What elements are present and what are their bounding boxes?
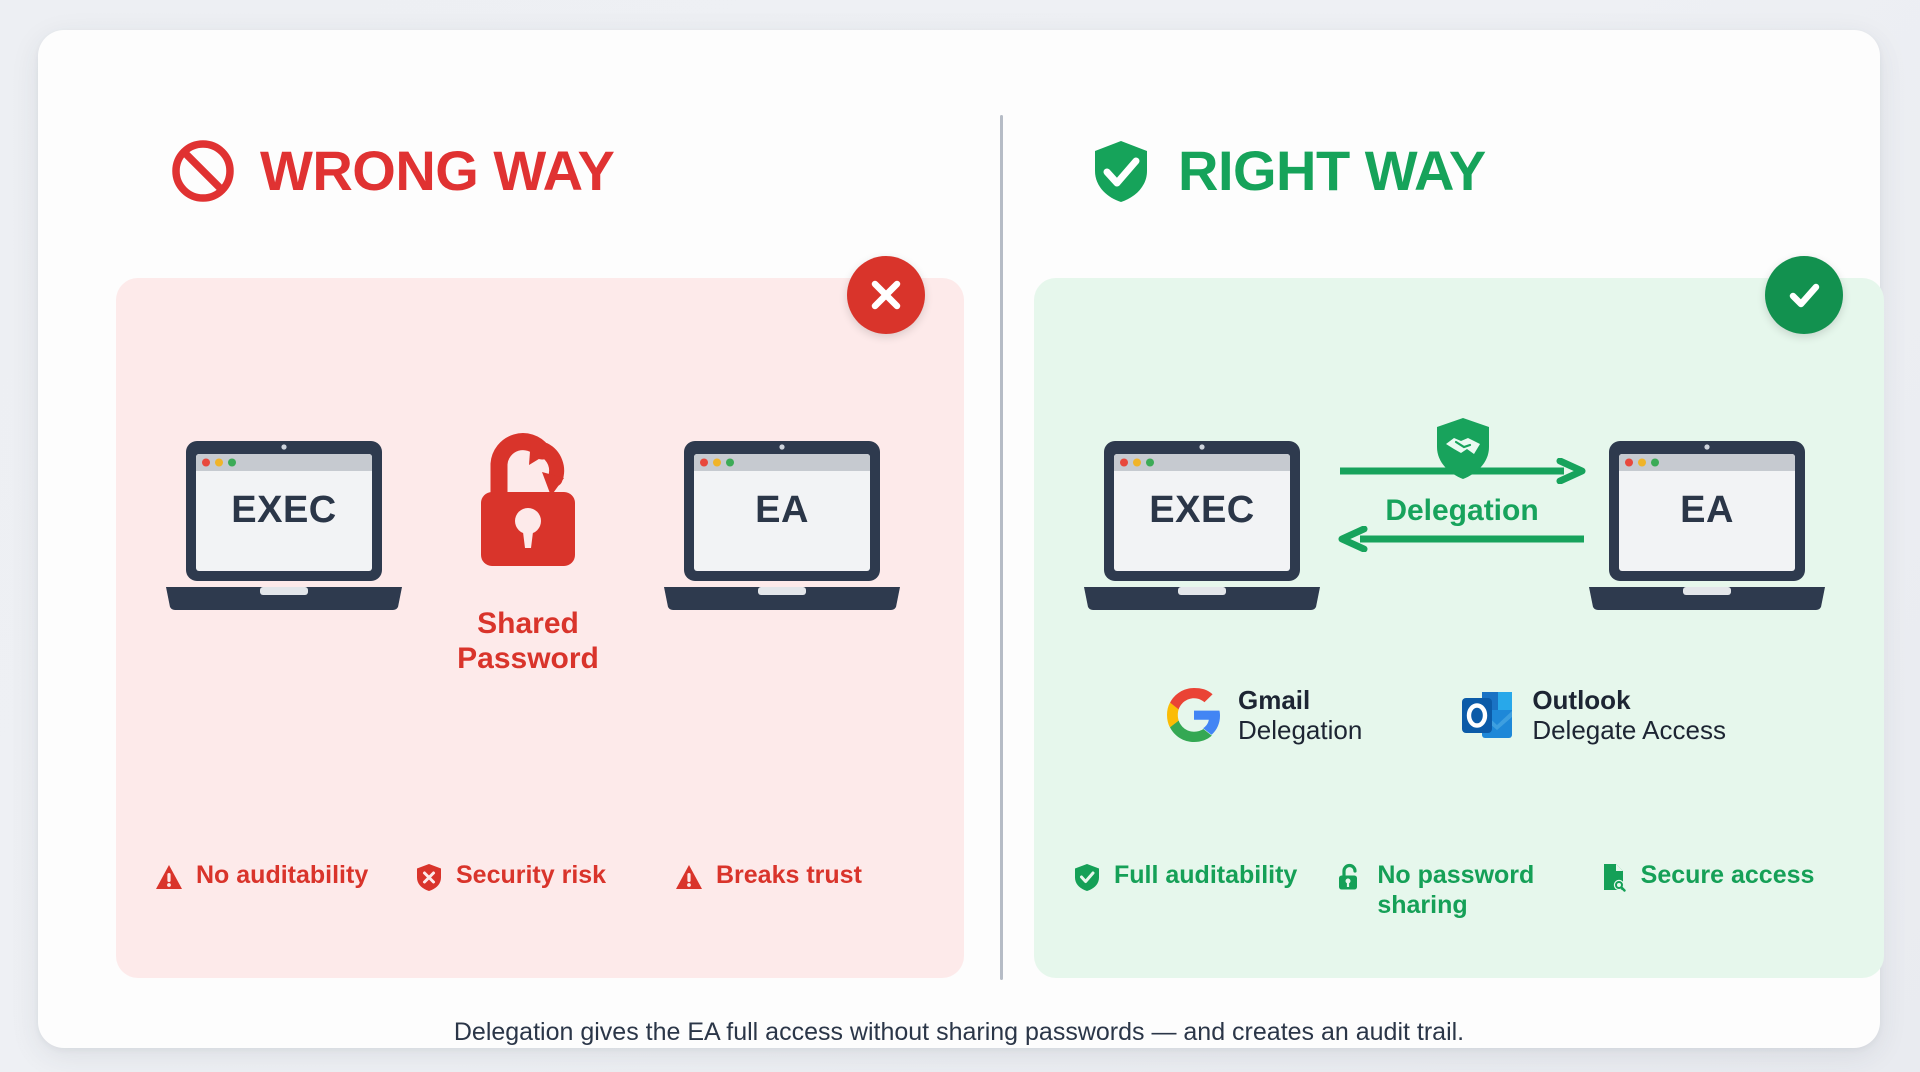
feature-label: Security risk bbox=[456, 860, 606, 890]
outlook-icon bbox=[1460, 687, 1516, 743]
ea-laptop-wrong: EA bbox=[658, 437, 906, 619]
brand-name: Gmail bbox=[1238, 685, 1310, 715]
feature-secure-access: Secure access bbox=[1599, 860, 1862, 920]
feature-label: Breaks trust bbox=[716, 860, 862, 890]
brand-name: Outlook bbox=[1532, 685, 1630, 715]
laptop-screen-label: EA bbox=[1583, 489, 1831, 532]
feature-label: Secure access bbox=[1641, 860, 1815, 890]
footer-caption: Delegation gives the EA full access with… bbox=[38, 1018, 1880, 1047]
arrow-left-icon bbox=[1338, 526, 1586, 552]
document-search-icon bbox=[1599, 862, 1629, 892]
laptop-screen-label: EXEC bbox=[160, 489, 408, 532]
shield-handshake-icon bbox=[1434, 416, 1492, 482]
feature-security-risk: Security risk bbox=[414, 860, 674, 892]
panel-divider bbox=[1000, 115, 1003, 980]
wrong-way-header: WRONG WAY bbox=[170, 138, 614, 204]
open-padlock-icon bbox=[1335, 862, 1365, 892]
feature-breaks-trust: Breaks trust bbox=[674, 860, 934, 892]
shared-password-block: Shared Password bbox=[438, 420, 618, 677]
wrong-way-feature-list: No auditability Security risk bbox=[154, 860, 934, 892]
right-way-feature-list: Full auditability No password sharing bbox=[1072, 860, 1862, 920]
shared-password-caption: Shared Password bbox=[438, 606, 618, 677]
laptop-screen-label: EXEC bbox=[1078, 489, 1326, 532]
shield-check-icon bbox=[1088, 138, 1154, 204]
x-mark-badge-icon bbox=[847, 256, 925, 334]
main-card: WRONG WAY RIGHT WAY bbox=[38, 30, 1880, 1048]
warning-triangle-icon bbox=[154, 862, 184, 892]
exec-laptop-right: EXEC bbox=[1078, 437, 1326, 619]
shield-check-icon bbox=[1072, 862, 1102, 892]
brand-subtitle: Delegation bbox=[1238, 715, 1362, 745]
feature-label: Full auditability bbox=[1114, 860, 1297, 890]
laptop-screen-label: EA bbox=[658, 489, 906, 532]
page-title-wrong: WRONG WAY bbox=[260, 143, 614, 199]
check-mark-badge-icon bbox=[1765, 256, 1843, 334]
infographic-page: WRONG WAY RIGHT WAY bbox=[0, 0, 1920, 1072]
feature-label: No auditability bbox=[196, 860, 368, 890]
ea-laptop-right: EA bbox=[1583, 437, 1831, 619]
feature-no-password-sharing: No password sharing bbox=[1335, 860, 1598, 920]
delegation-block: Delegation bbox=[1338, 430, 1586, 580]
shared-password-line1: Shared bbox=[438, 606, 618, 641]
delegation-label: Delegation bbox=[1338, 494, 1586, 528]
shield-x-icon bbox=[414, 862, 444, 892]
page-title-right: RIGHT WAY bbox=[1178, 143, 1486, 199]
right-way-header: RIGHT WAY bbox=[1088, 138, 1486, 204]
shared-password-line2: Password bbox=[438, 641, 618, 676]
open-padlock-icon bbox=[438, 420, 618, 592]
brand-text: Outlook Delegate Access bbox=[1532, 685, 1726, 745]
brand-outlook: Outlook Delegate Access bbox=[1460, 685, 1726, 745]
exec-laptop-wrong: EXEC bbox=[160, 437, 408, 619]
feature-full-auditability: Full auditability bbox=[1072, 860, 1335, 920]
brand-gmail: Gmail Delegation bbox=[1166, 685, 1362, 745]
brand-subtitle: Delegate Access bbox=[1532, 715, 1726, 745]
delegation-products: Gmail Delegation bbox=[1166, 685, 1726, 745]
feature-label: No password sharing bbox=[1377, 860, 1598, 920]
warning-triangle-icon bbox=[674, 862, 704, 892]
brand-text: Gmail Delegation bbox=[1238, 685, 1362, 745]
feature-no-auditability: No auditability bbox=[154, 860, 414, 892]
google-g-icon bbox=[1166, 687, 1222, 743]
prohibited-sign-icon bbox=[170, 138, 236, 204]
